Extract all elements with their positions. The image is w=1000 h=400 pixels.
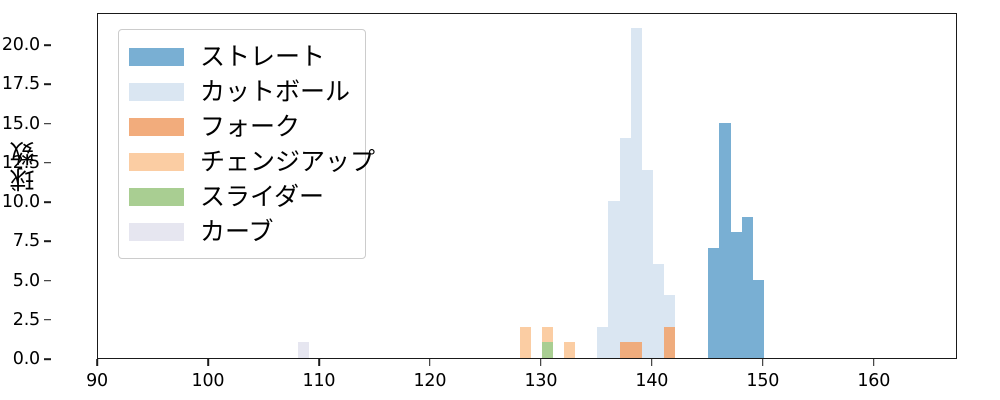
x-tick-label: 110 [303, 371, 336, 391]
x-tick-mark [873, 359, 875, 366]
y-tick-mark [44, 162, 51, 164]
legend-item[interactable]: ストレート [129, 39, 349, 74]
histogram-bar [597, 327, 608, 358]
y-tick-label: 5.0 [13, 271, 40, 291]
pitch-speed-histogram-figure: 球数 0.02.55.07.510.012.515.017.520.0 9010… [0, 0, 1000, 400]
histogram-bar [620, 138, 631, 358]
y-axis: 球数 0.02.55.07.510.012.515.017.520.0 [0, 0, 97, 372]
y-tick-label: 7.5 [13, 231, 40, 251]
x-axis: 90100110120130140150160 [0, 359, 1000, 400]
legend-item[interactable]: スライダー [129, 179, 349, 214]
y-tick-label: 17.5 [2, 74, 40, 94]
histogram-bar [642, 170, 653, 358]
legend-swatch-icon [129, 153, 184, 171]
y-tick-mark [44, 241, 51, 243]
histogram-bar [298, 342, 309, 358]
x-tick-mark [651, 359, 653, 366]
x-tick-label: 90 [86, 371, 108, 391]
histogram-bar [564, 342, 575, 358]
legend-item[interactable]: フォーク [129, 109, 349, 144]
y-tick-label: 20.0 [2, 35, 40, 55]
y-tick-label: 2.5 [13, 310, 40, 330]
legend-swatch-icon [129, 223, 184, 241]
y-tick-mark [44, 123, 51, 125]
x-tick-label: 160 [857, 371, 890, 391]
legend-label: カットボール [200, 79, 350, 104]
legend-label: フォーク [200, 114, 300, 139]
legend-label: カーブ [200, 219, 274, 244]
histogram-bar [731, 232, 742, 358]
histogram-bar [620, 342, 631, 358]
x-tick-mark [96, 359, 98, 366]
y-tick-mark [44, 280, 51, 282]
histogram-bar [542, 342, 553, 358]
y-tick-mark [44, 84, 51, 86]
legend-label: ストレート [200, 44, 325, 69]
histogram-bar [753, 280, 764, 358]
histogram-bar [631, 342, 642, 358]
x-tick-label: 130 [524, 371, 557, 391]
histogram-bar [708, 248, 719, 358]
y-tick-mark [44, 44, 51, 46]
legend-item[interactable]: チェンジアップ [129, 144, 349, 179]
histogram-bar [653, 264, 664, 358]
legend-item[interactable]: カーブ [129, 214, 349, 249]
x-tick-label: 120 [413, 371, 446, 391]
legend: ストレートカットボールフォークチェンジアップスライダーカーブ [118, 29, 366, 259]
legend-swatch-icon [129, 188, 184, 206]
y-tick-mark [44, 201, 51, 203]
x-tick-label: 140 [635, 371, 668, 391]
legend-swatch-icon [129, 48, 184, 66]
x-tick-mark [207, 359, 209, 366]
legend-swatch-icon [129, 118, 184, 136]
histogram-bar [664, 327, 675, 358]
legend-item[interactable]: カットボール [129, 74, 349, 109]
legend-swatch-icon [129, 83, 184, 101]
x-tick-mark [429, 359, 431, 366]
y-tick-label: 15.0 [2, 114, 40, 134]
legend-label: チェンジアップ [200, 149, 375, 174]
y-tick-label: 12.5 [2, 153, 40, 173]
x-tick-mark [762, 359, 764, 366]
histogram-bar [520, 327, 531, 358]
legend-label: スライダー [200, 184, 324, 209]
x-tick-label: 100 [192, 371, 225, 391]
histogram-bar [631, 28, 642, 358]
histogram-bar [719, 123, 730, 358]
y-tick-mark [44, 319, 51, 321]
y-tick-label: 10.0 [2, 192, 40, 212]
x-tick-mark [318, 359, 320, 366]
x-tick-label: 150 [746, 371, 779, 391]
histogram-bar [742, 217, 753, 358]
x-tick-mark [540, 359, 542, 366]
histogram-bar [608, 201, 619, 358]
